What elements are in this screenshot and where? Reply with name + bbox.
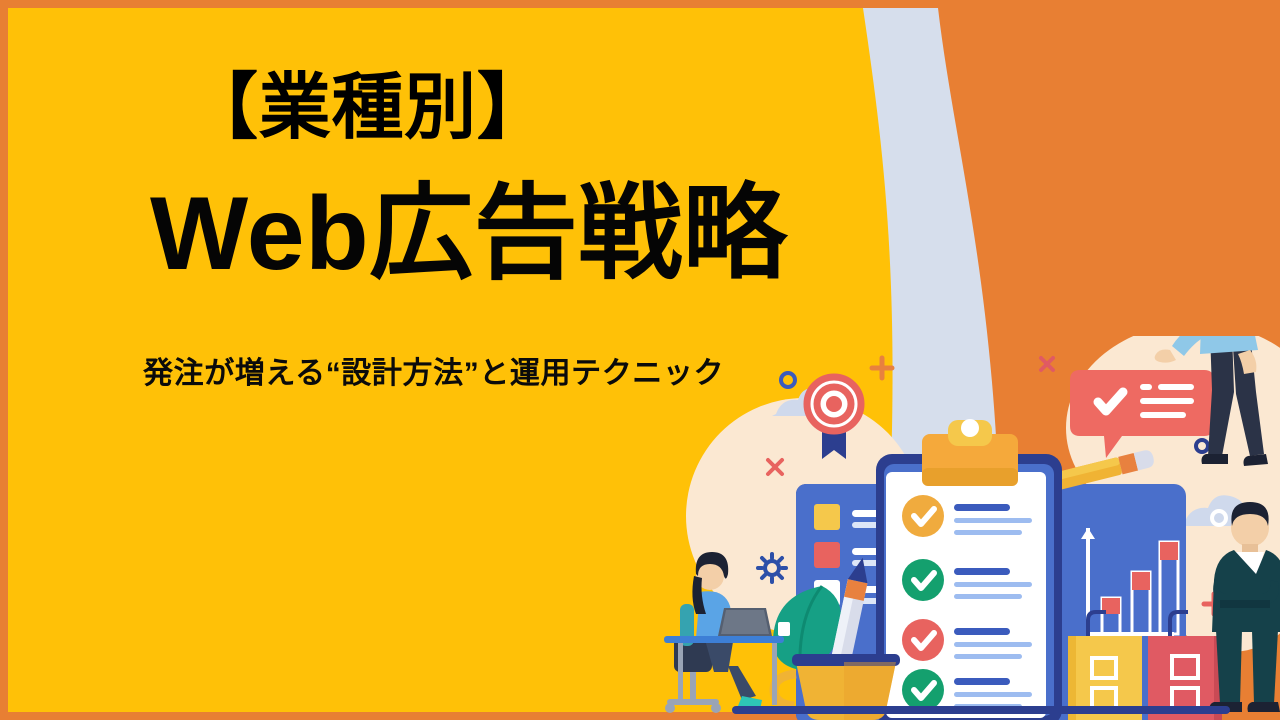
clipboard (876, 419, 1062, 720)
check-circle-red (902, 619, 944, 661)
check-circle-green (902, 669, 944, 711)
floor-line (732, 706, 1230, 714)
x-mark-icon (1041, 358, 1053, 370)
plus-mark-icon (872, 358, 892, 378)
check-circle-amber (902, 495, 944, 537)
slide-canvas: 【業種別】 Web広告戦略 発注が増える“設計方法”と運用テクニック (0, 0, 1280, 720)
task-swatch-yellow (814, 504, 840, 530)
ring-dot-icon (781, 373, 795, 387)
illustration-svg (636, 336, 1280, 720)
check-circle-green (902, 559, 944, 601)
checklist-illustration (636, 336, 1280, 720)
task-swatch-red (814, 542, 840, 568)
